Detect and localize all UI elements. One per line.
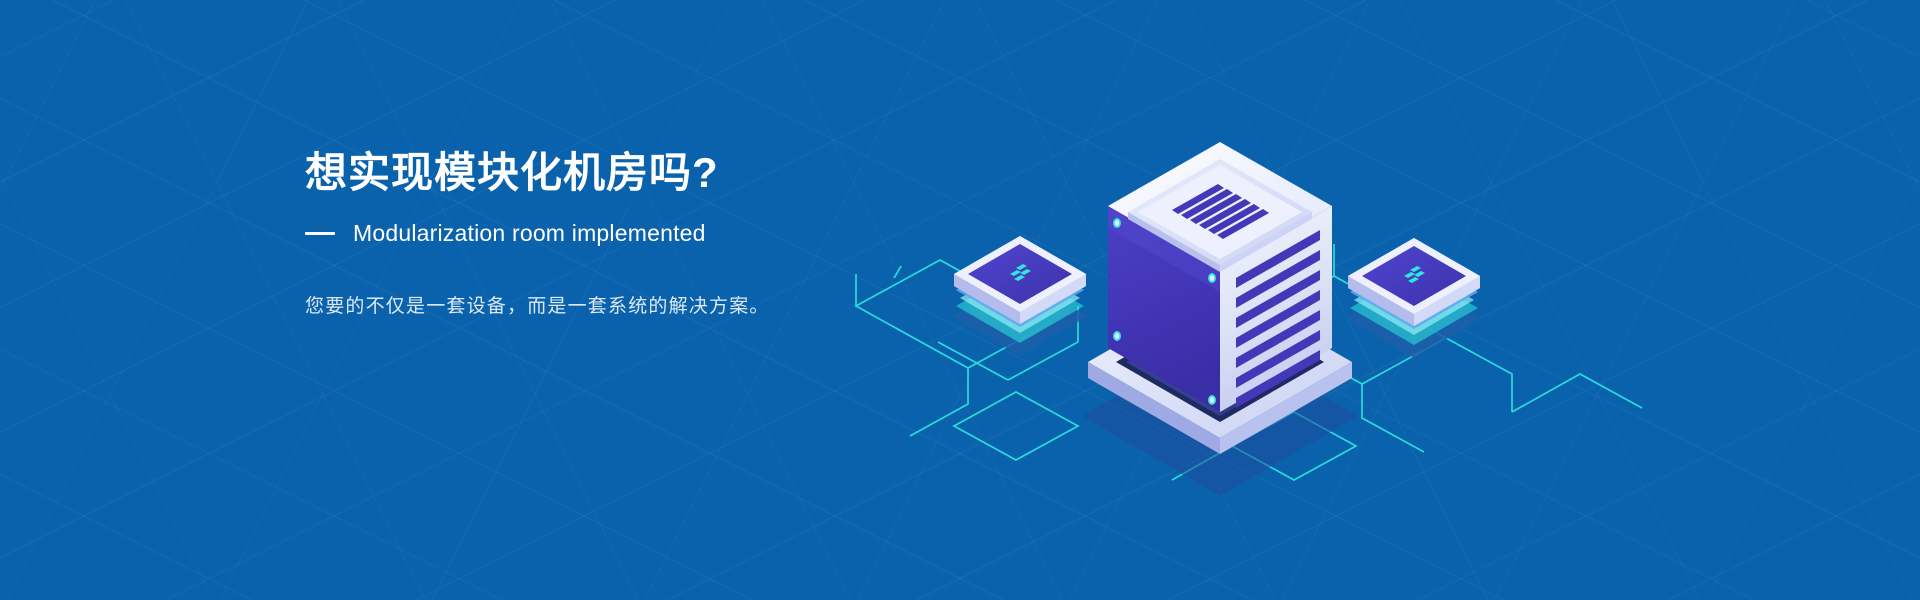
banner-subtitle: Modularization room implemented [353,220,706,247]
screw-icon [1113,218,1121,228]
screw-icon [1208,395,1216,405]
screw-icon [1113,331,1121,341]
screw-icon [1208,273,1216,283]
dash-accent-icon [305,232,335,235]
isometric-data-center-illustration [820,60,1720,540]
hero-banner: 想实现模块化机房吗? Modularization room implement… [0,0,1920,600]
